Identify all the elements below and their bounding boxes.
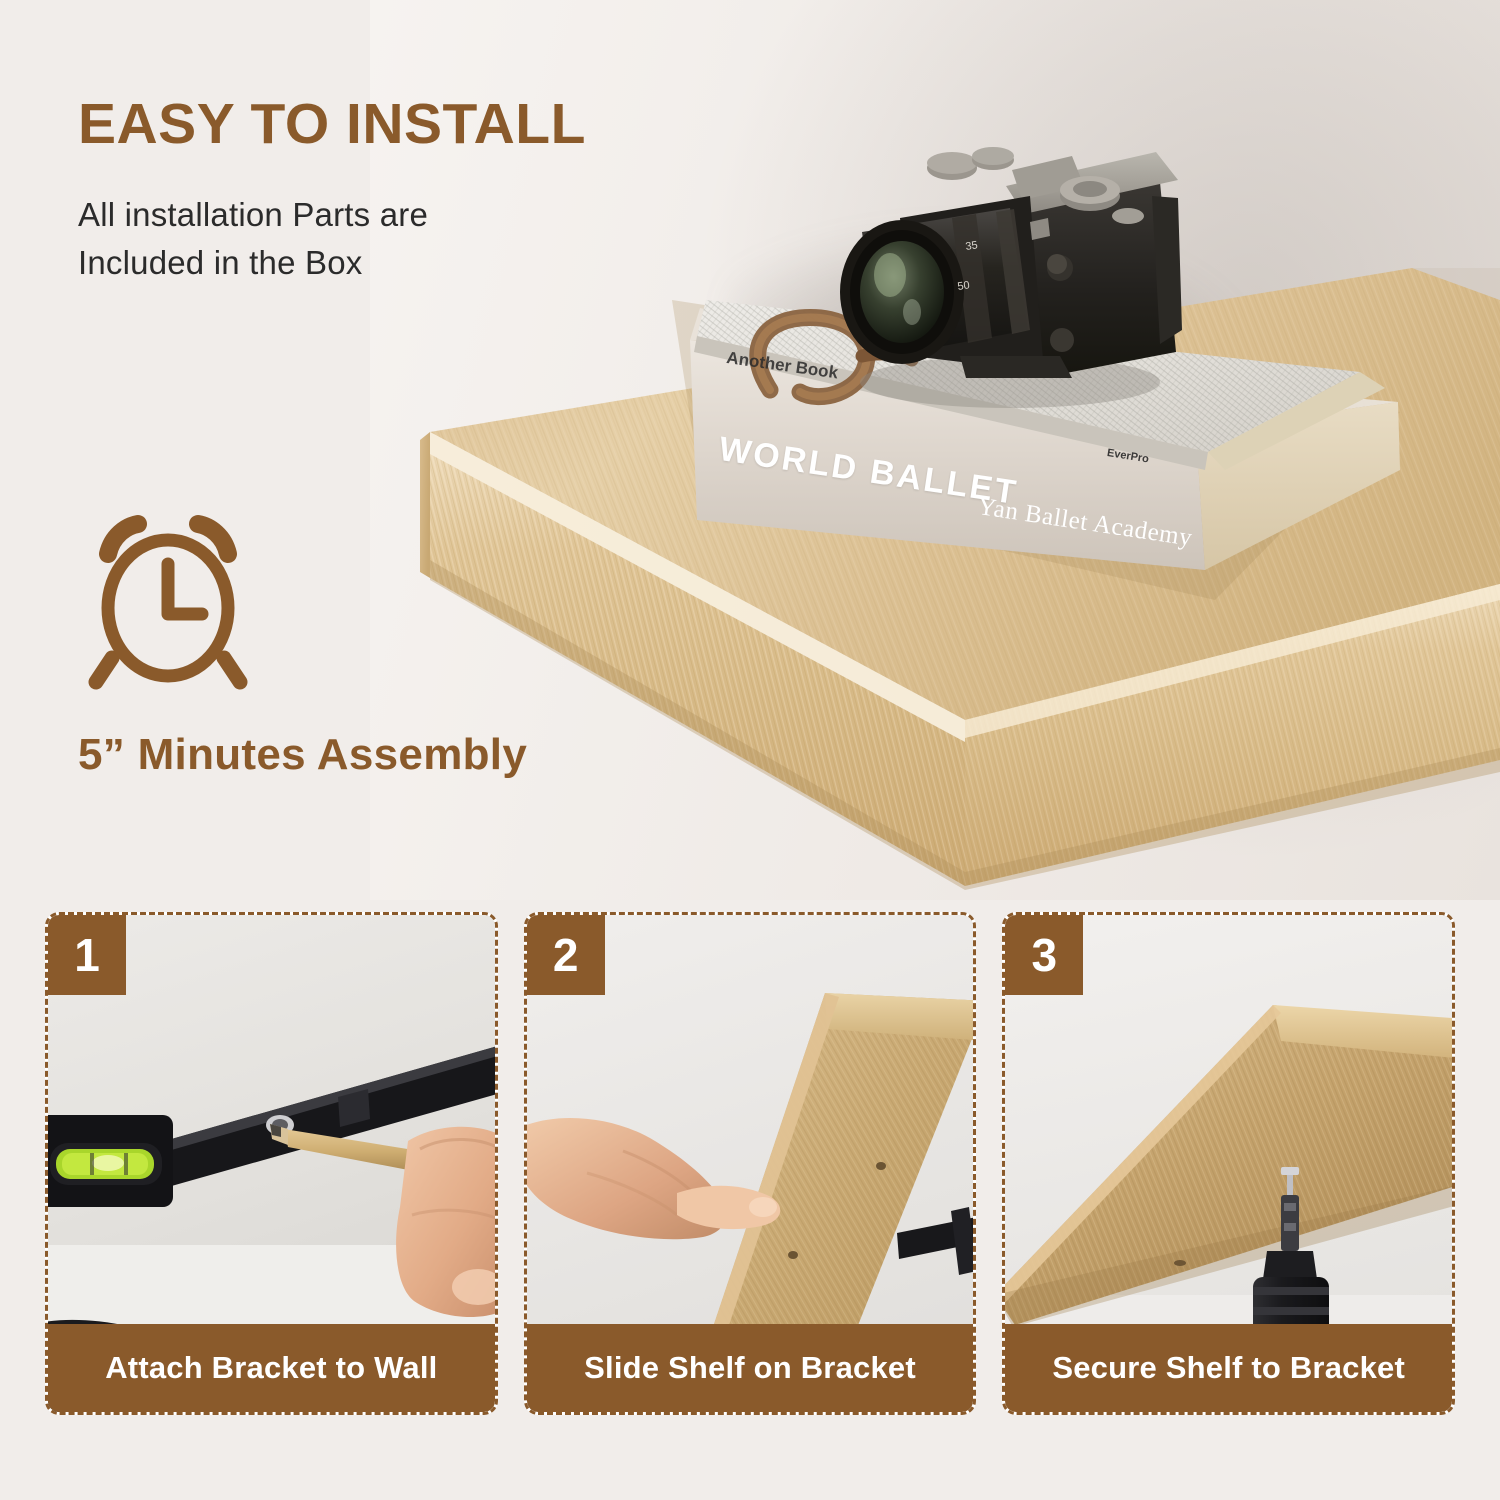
svg-text:50: 50 xyxy=(957,279,971,293)
step-1-caption: Attach Bracket to Wall xyxy=(48,1324,495,1412)
step-panel-1: 1 Attach Bracket to Wall xyxy=(45,912,498,1415)
hero-subtitle-line2: Included in the Box xyxy=(78,239,738,287)
hero-copy-block: EASY TO INSTALL All installation Parts a… xyxy=(78,95,738,287)
step-3-caption: Secure Shelf to Bracket xyxy=(1005,1324,1452,1412)
step-2-caption: Slide Shelf on Bracket xyxy=(527,1324,974,1412)
svg-text:35: 35 xyxy=(965,239,979,253)
alarm-clock-icon xyxy=(78,510,258,700)
step-panel-2: 2 Slide Shelf on Bracket xyxy=(524,912,977,1415)
hero-subtitle-line1: All installation Parts are xyxy=(78,191,738,239)
page-title: EASY TO INSTALL xyxy=(78,95,738,155)
assembly-time-label: 5” Minutes Assembly xyxy=(78,730,527,780)
hero-section: WORLD BALLET Yan Ballet Academy Another … xyxy=(0,0,1500,900)
installation-steps: 1 Attach Bracket to Wall xyxy=(0,912,1500,1500)
step-2-number: 2 xyxy=(527,915,605,995)
step-panel-3: 15 20 3 Secure Shelf to Bracket xyxy=(1002,912,1455,1415)
hero-subtitle: All installation Parts are Included in t… xyxy=(78,191,738,287)
step-1-number: 1 xyxy=(48,915,126,995)
step-3-number: 3 xyxy=(1005,915,1083,995)
